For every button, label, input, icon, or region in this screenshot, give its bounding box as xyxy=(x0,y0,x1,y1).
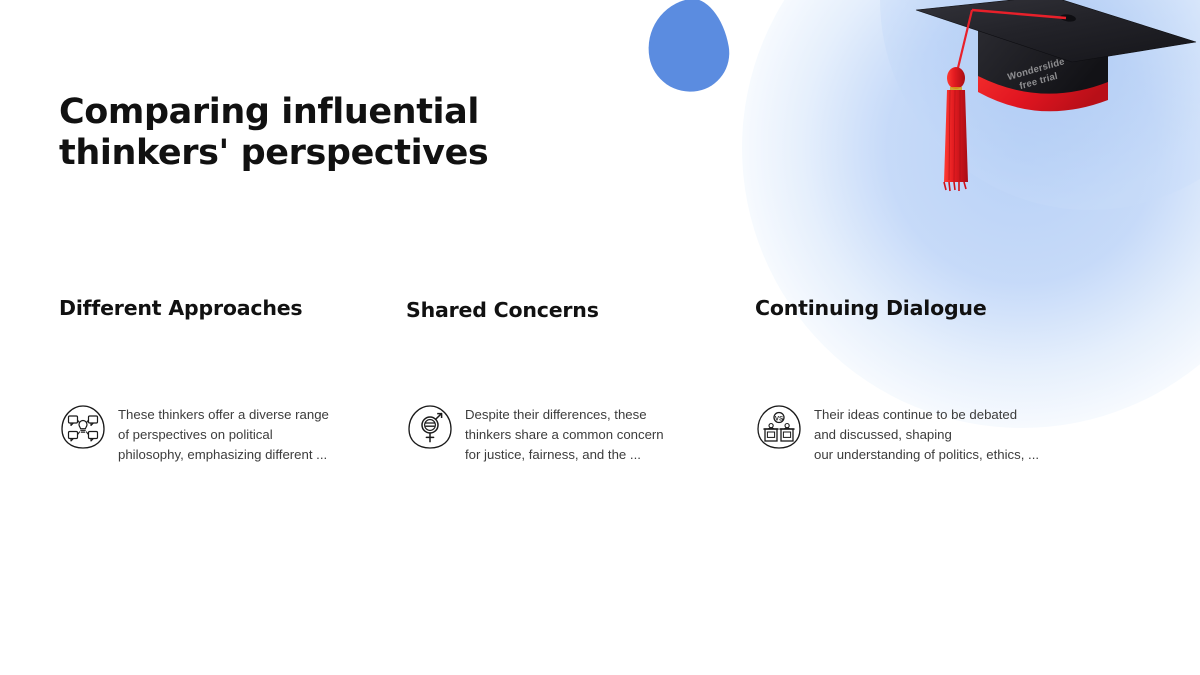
svg-text:VS: VS xyxy=(775,415,783,422)
column-shared-concerns: Shared Concerns xyxy=(406,295,736,323)
column-text: These thinkers offer a diverse range of … xyxy=(118,402,329,465)
debate-podiums-icon: VS xyxy=(755,403,803,451)
gender-equality-icon xyxy=(406,403,454,451)
column-heading: Different Approaches xyxy=(59,295,389,321)
blue-blob-shape xyxy=(641,0,736,98)
column-text: Their ideas continue to be debated and d… xyxy=(814,402,1082,465)
column-body: These thinkers offer a diverse range of … xyxy=(59,402,389,465)
slide-title: Comparing influential thinkers' perspect… xyxy=(59,92,619,174)
column-body: VS Their ideas c xyxy=(755,402,1085,465)
column-heading: Continuing Dialogue xyxy=(755,295,1085,321)
column-continuing-dialogue: Continuing Dialogue VS xyxy=(755,295,1085,321)
graduation-cap-icon xyxy=(900,0,1200,209)
column-body: Despite their differences, these thinker… xyxy=(406,402,736,465)
column-heading: Shared Concerns xyxy=(406,297,736,323)
slide-canvas: Wonderslide free trial Comparing influen… xyxy=(0,0,1200,675)
mind-map-idea-icon xyxy=(59,403,107,451)
graduation-cap-illustration: Wonderslide free trial xyxy=(900,0,1200,209)
column-different-approaches: Different Approaches xyxy=(59,295,389,321)
column-text: Despite their differences, these thinker… xyxy=(465,402,664,465)
content-columns: Different Approaches xyxy=(0,295,1200,495)
